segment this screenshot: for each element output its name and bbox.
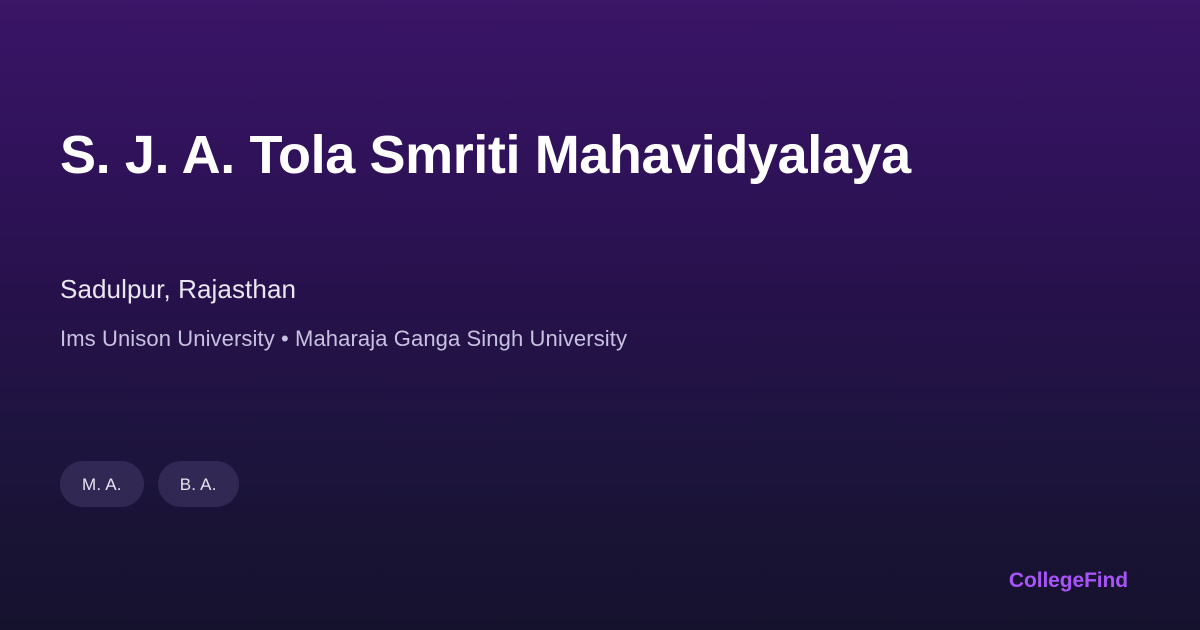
program-badge-ma: M. A. — [60, 461, 144, 507]
title-block: S. J. A. Tola Smriti Mahavidyalaya — [60, 124, 1140, 186]
og-share-card: S. J. A. Tola Smriti Mahavidyalaya Sadul… — [0, 0, 1200, 630]
program-badge-list: M. A. B. A. — [60, 461, 239, 507]
meta-block: Sadulpur, Rajasthan Ims Unison Universit… — [60, 272, 1140, 354]
affiliations-text: Ims Unison University • Maharaja Ganga S… — [60, 306, 1140, 354]
program-badge-ba: B. A. — [158, 461, 239, 507]
brand-wordmark: CollegeFind — [1009, 568, 1128, 594]
card-content-area: S. J. A. Tola Smriti Mahavidyalaya Sadul… — [60, 0, 1140, 630]
location-text: Sadulpur, Rajasthan — [60, 272, 1140, 306]
college-title: S. J. A. Tola Smriti Mahavidyalaya — [60, 124, 1140, 186]
